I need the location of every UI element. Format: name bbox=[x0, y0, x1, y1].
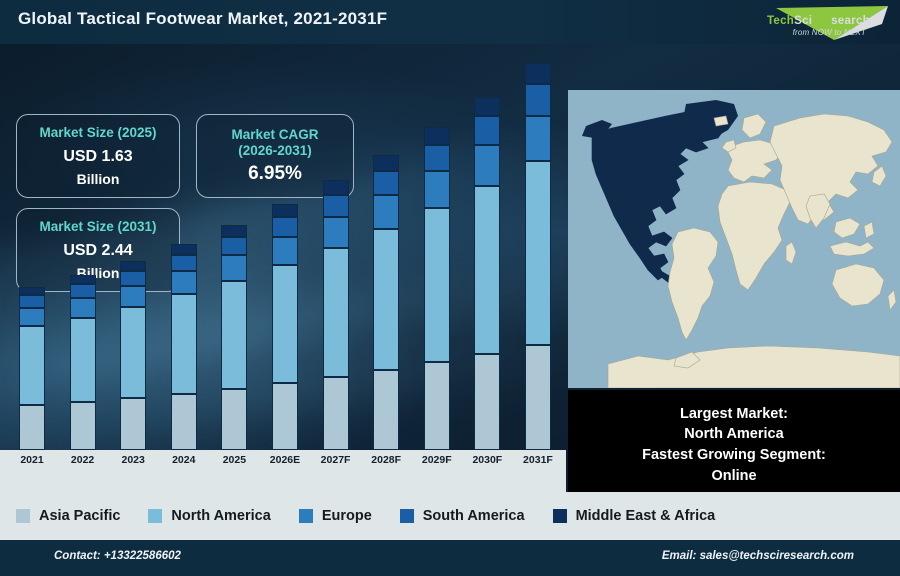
bar-segment bbox=[120, 261, 146, 271]
stacked-bar bbox=[525, 63, 551, 450]
stacked-bar bbox=[19, 287, 45, 450]
map-region-iceland bbox=[714, 116, 728, 126]
key-insights-callout: Largest Market: North America Fastest Gr… bbox=[568, 390, 900, 500]
x-axis-label-2024: 2024 bbox=[162, 454, 206, 474]
logo-tech: Tech bbox=[767, 15, 794, 27]
footer-bar: Contact: +13322586602 Email: sales@techs… bbox=[0, 540, 900, 576]
bar-segment bbox=[221, 281, 247, 389]
bar-segment bbox=[373, 229, 399, 370]
x-axis-labels: 202120222023202420252026E2027F2028F2029F… bbox=[10, 454, 560, 474]
bar-column-2027f bbox=[314, 70, 358, 450]
stacked-bar bbox=[221, 225, 247, 450]
bar-segment bbox=[70, 402, 96, 450]
bar-segment bbox=[171, 255, 197, 271]
bar-segment bbox=[171, 394, 197, 450]
bar-segment bbox=[424, 145, 450, 171]
logo-sci: Sci bbox=[794, 15, 812, 27]
bar-segment bbox=[221, 237, 247, 255]
bar-segment bbox=[221, 255, 247, 281]
callout-largest-market-value: North America bbox=[684, 425, 783, 444]
bar-column-2029f bbox=[415, 70, 459, 450]
bar-segment bbox=[19, 295, 45, 308]
bar-segment bbox=[525, 84, 551, 116]
bar-segment bbox=[171, 244, 197, 255]
x-axis-label-2021: 2021 bbox=[10, 454, 54, 474]
bar-segment bbox=[424, 362, 450, 450]
infographic-page: Global Tactical Footwear Market, 2021-20… bbox=[0, 0, 900, 576]
bar-segment bbox=[323, 217, 349, 248]
stacked-bar bbox=[474, 97, 500, 450]
bar-segment bbox=[424, 208, 450, 362]
legend-label: Asia Pacific bbox=[39, 508, 120, 524]
bar-segment bbox=[373, 171, 399, 195]
bar-segment bbox=[70, 298, 96, 318]
callout-largest-market-label: Largest Market: bbox=[680, 405, 788, 424]
bar-segment bbox=[272, 204, 298, 217]
bar-segment bbox=[474, 116, 500, 145]
chart-canvas: Market Size (2025) USD 1.63 Billion Mark… bbox=[0, 44, 900, 492]
bar-segment bbox=[525, 345, 551, 450]
bar-column-2026e bbox=[263, 70, 307, 450]
logo-wordmark: TechSci Research bbox=[767, 15, 870, 27]
bar-group bbox=[10, 70, 560, 450]
legend-item-middle-east-africa[interactable]: Middle East & Africa bbox=[553, 508, 744, 524]
stacked-bar-chart: 202120222023202420252026E2027F2028F2029F… bbox=[0, 44, 566, 492]
legend-swatch-icon bbox=[299, 509, 313, 523]
bar-segment bbox=[221, 389, 247, 450]
stacked-bar bbox=[171, 244, 197, 450]
bar-segment bbox=[525, 116, 551, 161]
bar-segment bbox=[373, 195, 399, 229]
legend-label: Europe bbox=[322, 508, 372, 524]
bar-segment bbox=[272, 383, 298, 450]
bar-column-2024 bbox=[162, 70, 206, 450]
x-axis-label-2029f: 2029F bbox=[415, 454, 459, 474]
bar-segment bbox=[323, 195, 349, 217]
logo-tagline: from NOW to NEXT bbox=[793, 28, 866, 37]
legend-item-north-america[interactable]: North America bbox=[148, 508, 298, 524]
legend-swatch-icon bbox=[148, 509, 162, 523]
bar-segment bbox=[19, 326, 45, 405]
chart-legend: Asia PacificNorth AmericaEuropeSouth Ame… bbox=[0, 492, 900, 540]
bar-segment bbox=[474, 97, 500, 116]
bar-segment bbox=[70, 275, 96, 284]
bar-segment bbox=[171, 271, 197, 294]
legend-label: North America bbox=[171, 508, 270, 524]
bar-segment bbox=[525, 63, 551, 84]
bar-column-2021 bbox=[10, 70, 54, 450]
bar-column-2022 bbox=[61, 70, 105, 450]
bar-segment bbox=[424, 171, 450, 208]
legend-swatch-icon bbox=[400, 509, 414, 523]
bar-segment bbox=[70, 318, 96, 402]
bar-segment bbox=[373, 155, 399, 171]
world-map-panel bbox=[568, 90, 900, 388]
logo-re: Re bbox=[816, 15, 831, 27]
bar-segment bbox=[19, 287, 45, 295]
legend-swatch-icon bbox=[16, 509, 30, 523]
x-axis-label-2022: 2022 bbox=[61, 454, 105, 474]
bar-segment bbox=[323, 180, 349, 195]
bar-segment bbox=[120, 286, 146, 307]
bar-segment bbox=[323, 248, 349, 377]
stacked-bar bbox=[120, 261, 146, 450]
bar-segment bbox=[373, 370, 399, 450]
header-bar: Global Tactical Footwear Market, 2021-20… bbox=[0, 0, 900, 44]
bar-segment bbox=[171, 294, 197, 394]
bar-segment bbox=[474, 145, 500, 186]
bar-column-2028f bbox=[364, 70, 408, 450]
bar-segment bbox=[120, 307, 146, 398]
stacked-bar bbox=[323, 180, 349, 450]
bar-segment bbox=[221, 225, 247, 237]
footer-contact: Contact: +13322586602 bbox=[54, 550, 181, 562]
bar-segment bbox=[474, 354, 500, 450]
legend-item-europe[interactable]: Europe bbox=[299, 508, 400, 524]
stacked-bar bbox=[373, 155, 399, 450]
x-axis-label-2027f: 2027F bbox=[314, 454, 358, 474]
stacked-bar bbox=[70, 275, 96, 450]
bar-segment bbox=[525, 161, 551, 345]
techsci-research-logo: TechSci Research from NOW to NEXT bbox=[722, 3, 892, 43]
bar-segment bbox=[272, 265, 298, 383]
bar-segment bbox=[474, 186, 500, 354]
bar-column-2031f bbox=[516, 70, 560, 450]
legend-item-south-america[interactable]: South America bbox=[400, 508, 553, 524]
bar-segment bbox=[70, 284, 96, 298]
x-axis-label-2031f: 2031F bbox=[516, 454, 560, 474]
page-title: Global Tactical Footwear Market, 2021-20… bbox=[18, 9, 387, 29]
x-axis-label-2023: 2023 bbox=[111, 454, 155, 474]
legend-swatch-icon bbox=[553, 509, 567, 523]
x-axis-label-2025: 2025 bbox=[212, 454, 256, 474]
bar-column-2023 bbox=[111, 70, 155, 450]
bar-column-2025 bbox=[212, 70, 256, 450]
bar-segment bbox=[120, 398, 146, 450]
bar-segment bbox=[323, 377, 349, 450]
footer-email: Email: sales@techsciresearch.com bbox=[662, 550, 854, 562]
stacked-bar bbox=[424, 127, 450, 450]
legend-label: South America bbox=[423, 508, 525, 524]
x-axis-label-2030f: 2030F bbox=[465, 454, 509, 474]
bar-segment bbox=[272, 237, 298, 265]
logo-search: search bbox=[831, 15, 870, 27]
legend-label: Middle East & Africa bbox=[576, 508, 716, 524]
bar-segment bbox=[272, 217, 298, 237]
bar-segment bbox=[424, 127, 450, 145]
stacked-bar bbox=[272, 204, 298, 450]
callout-fastest-segment-value: Online bbox=[711, 467, 756, 486]
bar-segment bbox=[19, 308, 45, 326]
bar-segment bbox=[19, 405, 45, 450]
world-map-icon bbox=[568, 90, 900, 388]
x-axis-label-2028f: 2028F bbox=[364, 454, 408, 474]
legend-item-asia-pacific[interactable]: Asia Pacific bbox=[16, 508, 148, 524]
x-axis-label-2026e: 2026E bbox=[263, 454, 307, 474]
bar-segment bbox=[120, 271, 146, 286]
callout-fastest-segment-label: Fastest Growing Segment: bbox=[642, 446, 826, 465]
bar-column-2030f bbox=[465, 70, 509, 450]
